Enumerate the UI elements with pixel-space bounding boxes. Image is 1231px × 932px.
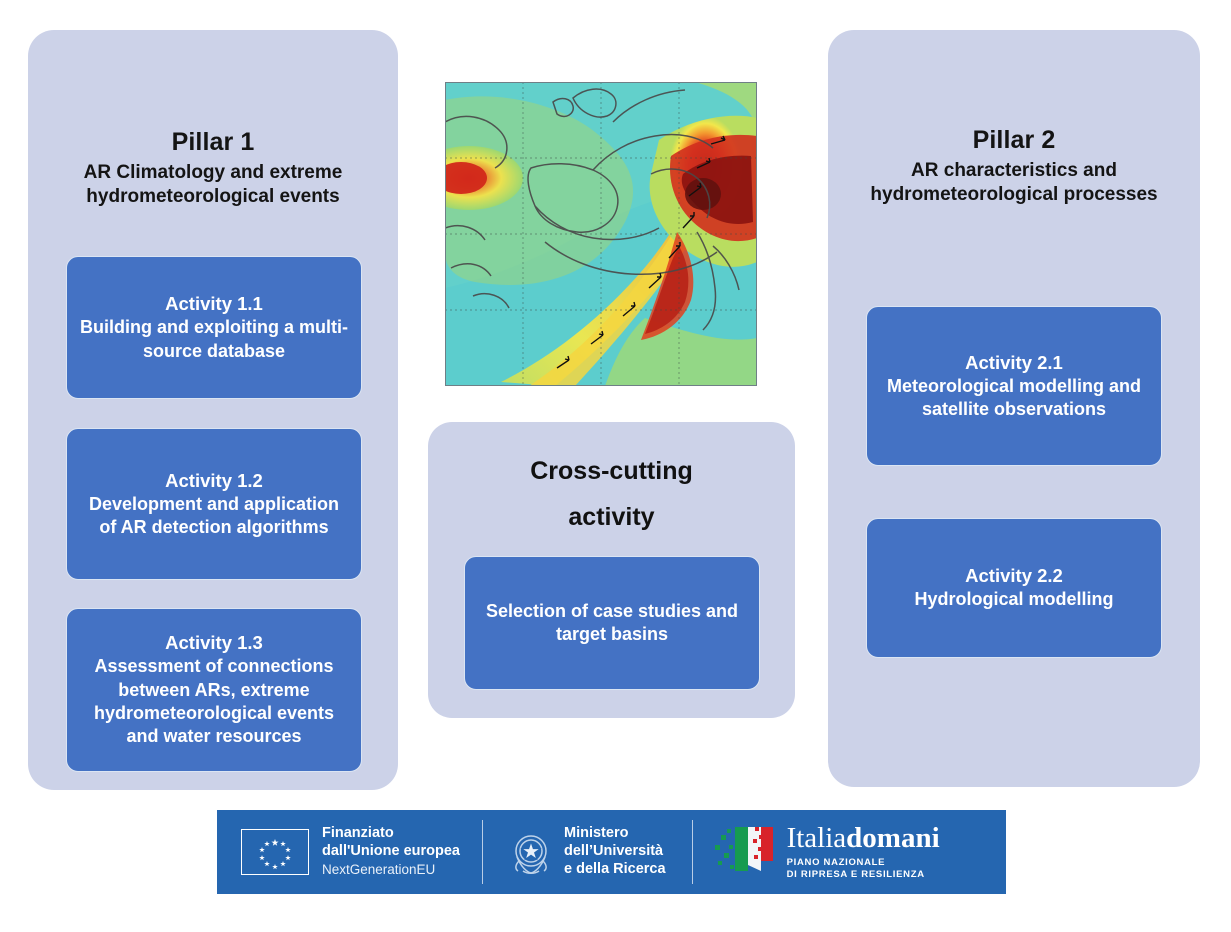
activity-1-1-content: Activity 1.1 Building and exploiting a m… xyxy=(79,292,349,363)
italia-domani-subtitle-line-1: PIANO NAZIONALE xyxy=(787,857,940,869)
italia-domani-text: Italiadomani PIANO NAZIONALE DI RIPRESA … xyxy=(787,824,940,881)
italia-domani-block: Italiadomani PIANO NAZIONALE DI RIPRESA … xyxy=(693,810,940,894)
atmospheric-river-map-figure xyxy=(445,82,757,386)
eu-funding-text: Finanziato dall'Unione europea NextGener… xyxy=(322,825,460,878)
eu-funding-block: Finanziato dall'Unione europea NextGener… xyxy=(217,810,482,894)
italia-domani-word-light: Italia xyxy=(787,822,847,854)
ministero-block: Ministero dell’Università e della Ricerc… xyxy=(483,810,692,894)
activity-box-1-3[interactable]: Activity 1.3 Assessment of connections b… xyxy=(66,608,362,772)
activity-2-1-name: Activity 2.1 xyxy=(879,351,1149,375)
activity-1-2-description: Development and application of AR detect… xyxy=(79,493,349,540)
activity-1-1-description: Building and exploiting a multi-source d… xyxy=(79,316,349,363)
pillar-2-heading: Pillar 2 AR characteristics and hydromet… xyxy=(828,126,1200,207)
activity-box-2-2[interactable]: Activity 2.2 Hydrological modelling xyxy=(866,518,1162,658)
pillar-2-title: Pillar 2 xyxy=(842,126,1186,155)
eu-line-3: NextGenerationEU xyxy=(322,861,460,879)
activity-1-1-name: Activity 1.1 xyxy=(79,292,349,316)
ministero-text: Ministero dell’Università e della Ricerc… xyxy=(564,825,666,879)
italia-domani-word-bold: domani xyxy=(846,822,939,854)
activity-2-1-content: Activity 2.1 Meteorological modelling an… xyxy=(879,351,1149,422)
ministero-line-2: dell’Università xyxy=(564,843,666,861)
cross-cutting-title-line-2: activity xyxy=(428,494,795,540)
activity-cross-cutting-description: Selection of case studies and target bas… xyxy=(477,600,747,647)
italia-domani-subtitle-line-2: DI RIPRESA E RESILIENZA xyxy=(787,869,940,881)
activity-box-2-1[interactable]: Activity 2.1 Meteorological modelling an… xyxy=(866,306,1162,466)
italian-republic-emblem-icon xyxy=(509,827,553,877)
activity-box-1-2[interactable]: Activity 1.2 Development and application… xyxy=(66,428,362,580)
activity-2-2-description: Hydrological modelling xyxy=(879,588,1149,611)
activity-box-cross-cutting[interactable]: Selection of case studies and target bas… xyxy=(464,556,760,690)
activity-2-2-content: Activity 2.2 Hydrological modelling xyxy=(879,564,1149,611)
emblem-graphic xyxy=(509,827,553,877)
activity-1-3-description: Assessment of connections between ARs, e… xyxy=(79,655,349,749)
cross-cutting-heading: Cross-cutting activity xyxy=(428,448,795,541)
italia-domani-wordmark: Italiadomani xyxy=(787,824,940,853)
eu-line-1: Finanziato xyxy=(322,825,460,843)
cross-cutting-title-line-1: Cross-cutting xyxy=(428,448,795,494)
funding-banner: Finanziato dall'Unione europea NextGener… xyxy=(217,810,1006,894)
italia-domani-flag-icon xyxy=(715,825,777,879)
eu-stars-circle xyxy=(242,830,308,874)
ministero-line-3: e della Ricerca xyxy=(564,861,666,879)
activity-1-3-name: Activity 1.3 xyxy=(79,631,349,655)
atmospheric-river-map-graphic xyxy=(445,82,757,386)
activity-1-2-content: Activity 1.2 Development and application… xyxy=(79,469,349,540)
ministero-line-1: Ministero xyxy=(564,825,666,843)
pillar-1-title: Pillar 1 xyxy=(42,128,384,157)
activity-cross-cutting-content: Selection of case studies and target bas… xyxy=(477,600,747,647)
activity-2-1-description: Meteorological modelling and satellite o… xyxy=(879,375,1149,422)
activity-1-3-content: Activity 1.3 Assessment of connections b… xyxy=(79,631,349,749)
activity-box-1-1[interactable]: Activity 1.1 Building and exploiting a m… xyxy=(66,256,362,399)
italia-domani-flag-graphic xyxy=(715,825,777,879)
activity-1-2-name: Activity 1.2 xyxy=(79,469,349,493)
activity-2-2-name: Activity 2.2 xyxy=(879,564,1149,588)
eu-line-2: dall'Unione europea xyxy=(322,843,460,861)
pillar-1-heading: Pillar 1 AR Climatology and extreme hydr… xyxy=(28,128,398,209)
eu-flag-icon xyxy=(241,829,309,875)
pillar-2-subtitle: AR characteristics and hydrometeorologic… xyxy=(842,159,1186,208)
pillar-1-subtitle: AR Climatology and extreme hydrometeorol… xyxy=(42,161,384,210)
